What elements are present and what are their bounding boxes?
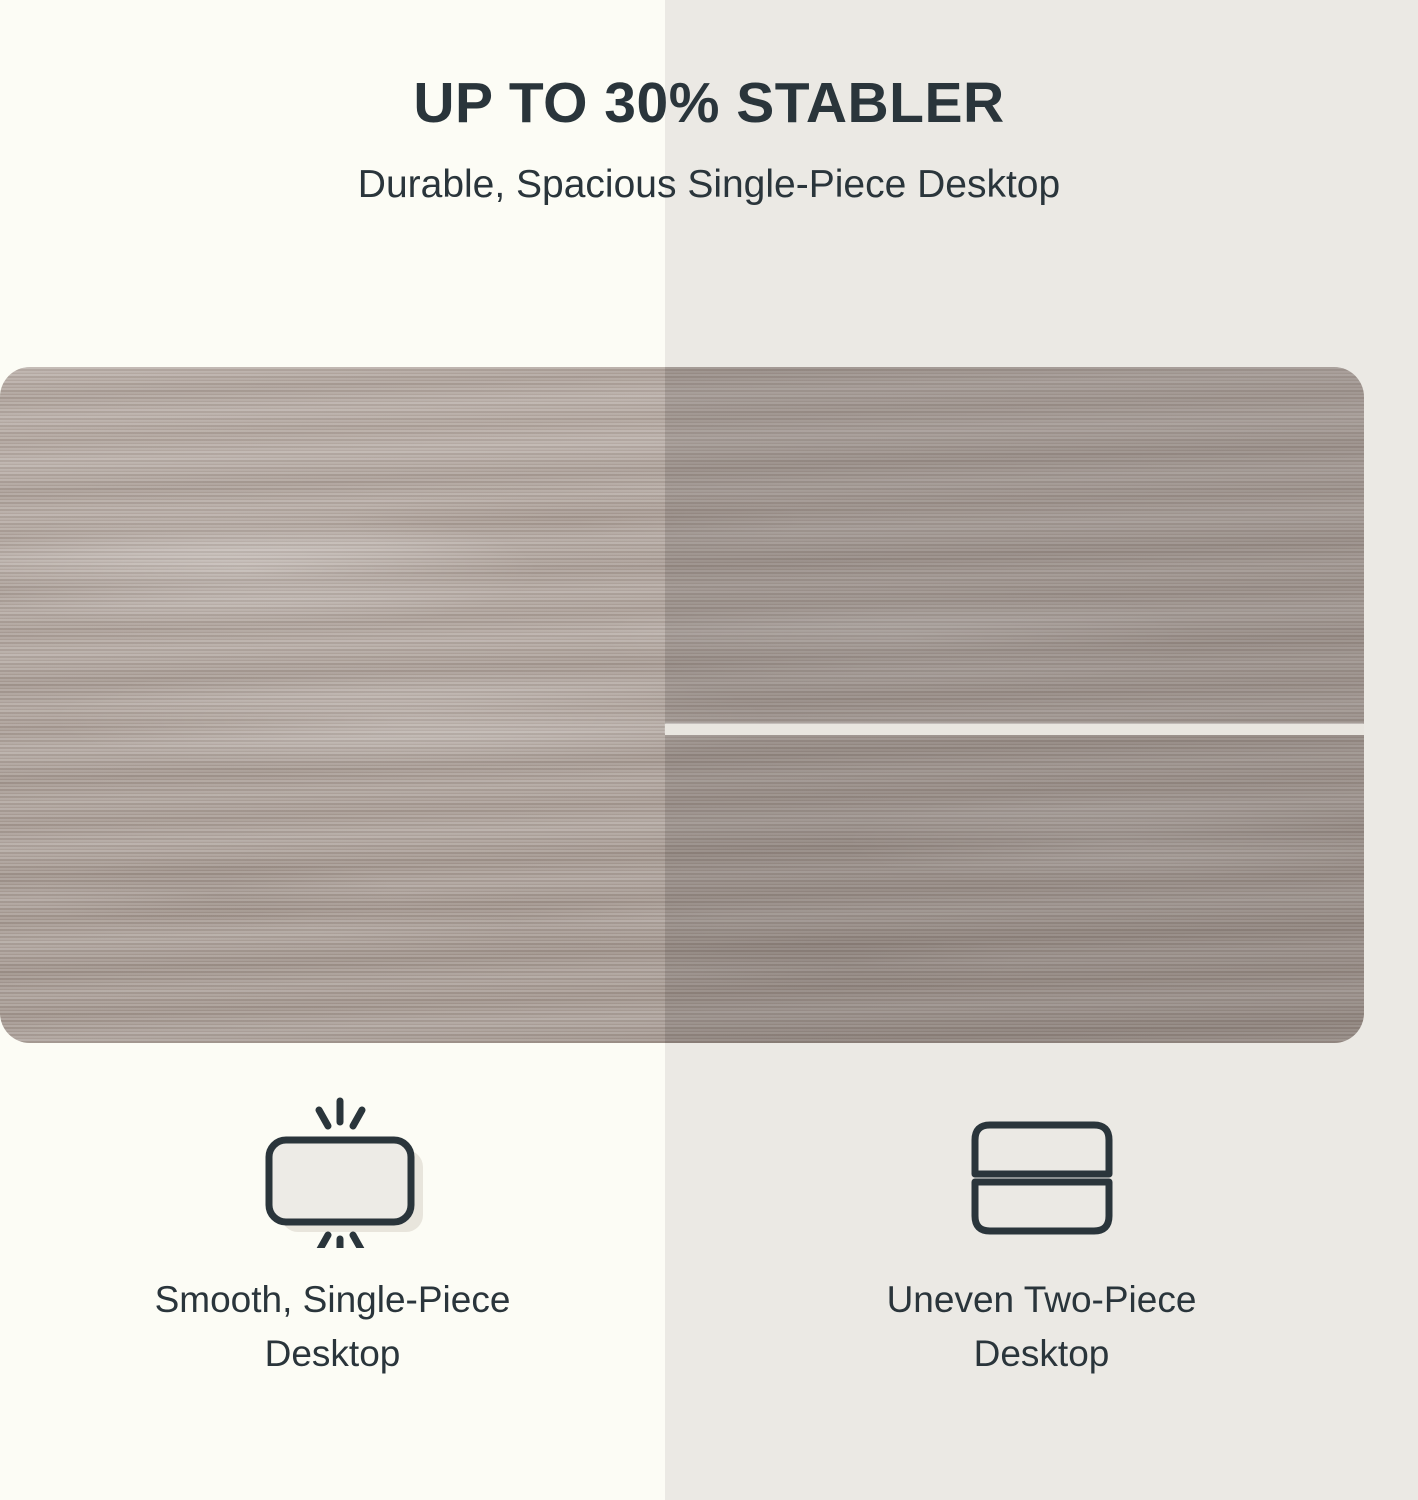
header: UP TO 30% STABLER Durable, Spacious Sing… <box>0 0 1418 207</box>
right-caption: Uneven Two-Piece Desktop <box>665 1255 1418 1380</box>
wood-panel <box>0 367 1364 1043</box>
right-icon-slot <box>665 1080 1418 1255</box>
upper-slab-outline <box>975 1125 1109 1174</box>
left-caption-line-2: Desktop <box>0 1327 665 1381</box>
right-half-shade-overlay <box>665 367 1364 1043</box>
two-piece-seam-gap <box>665 724 1364 735</box>
comparison-row: Smooth, Single-Piece Desktop Uneven Two-… <box>0 1080 1418 1440</box>
comparison-column-right: Uneven Two-Piece Desktop <box>665 1080 1418 1380</box>
left-caption: Smooth, Single-Piece Desktop <box>0 1255 665 1380</box>
right-caption-line-1: Uneven Two-Piece <box>665 1273 1418 1327</box>
sparkle-dashes-bottom <box>319 1235 362 1248</box>
two-stacked-slabs-icon <box>942 1088 1142 1248</box>
sparkle-dashes-top <box>319 1101 362 1126</box>
left-icon-slot <box>0 1080 665 1255</box>
infographic-canvas: UP TO 30% STABLER Durable, Spacious Sing… <box>0 0 1418 1500</box>
right-caption-line-2: Desktop <box>665 1327 1418 1381</box>
slab-outline <box>269 1140 411 1222</box>
desktop-surface-image <box>0 367 1364 1043</box>
left-caption-line-1: Smooth, Single-Piece <box>0 1273 665 1327</box>
subheadline: Durable, Spacious Single-Piece Desktop <box>0 134 1418 207</box>
comparison-column-left: Smooth, Single-Piece Desktop <box>0 1080 665 1380</box>
headline: UP TO 30% STABLER <box>0 0 1418 134</box>
single-slab-sparkle-icon <box>233 1088 433 1248</box>
lower-slab-outline <box>975 1182 1109 1231</box>
